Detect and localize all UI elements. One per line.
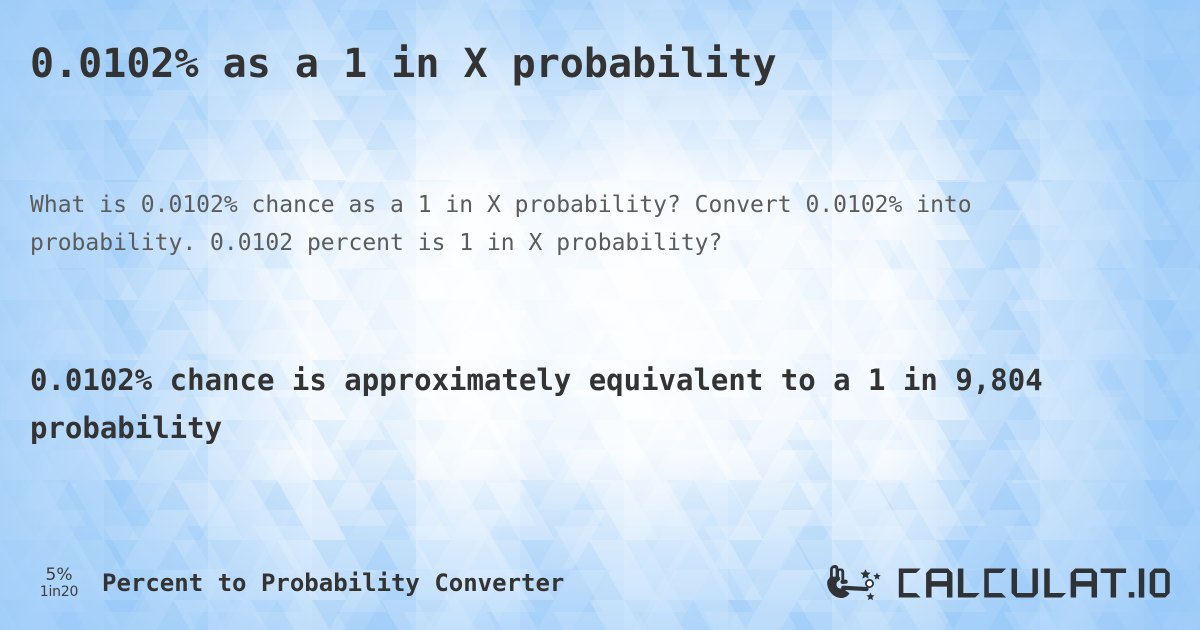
site-logo[interactable] [825, 561, 1170, 605]
page-description: What is 0.0102% chance as a 1 in X proba… [30, 186, 1090, 262]
percent-to-odds-icon-top-label: 5% [46, 567, 73, 585]
footer: 5% 1in20 Percent to Probability Converte… [0, 558, 1200, 608]
page-title: 0.0102% as a 1 in X probability [30, 41, 777, 88]
og-image-card: 0.0102% as a 1 in X probability What is … [0, 0, 1200, 630]
footer-left-group: 5% 1in20 Percent to Probability Converte… [30, 567, 564, 600]
hand-magic-wand-icon [825, 561, 889, 605]
percent-to-odds-icon-bottom-label: 1in20 [40, 585, 79, 600]
percent-to-odds-icon: 5% 1in20 [30, 567, 88, 600]
conversion-result: 0.0102% chance is approximately equivale… [30, 356, 1175, 452]
calculatio-wordmark [897, 561, 1170, 605]
card-content: 0.0102% as a 1 in X probability What is … [0, 0, 1200, 630]
tool-name: Percent to Probability Converter [102, 569, 564, 597]
